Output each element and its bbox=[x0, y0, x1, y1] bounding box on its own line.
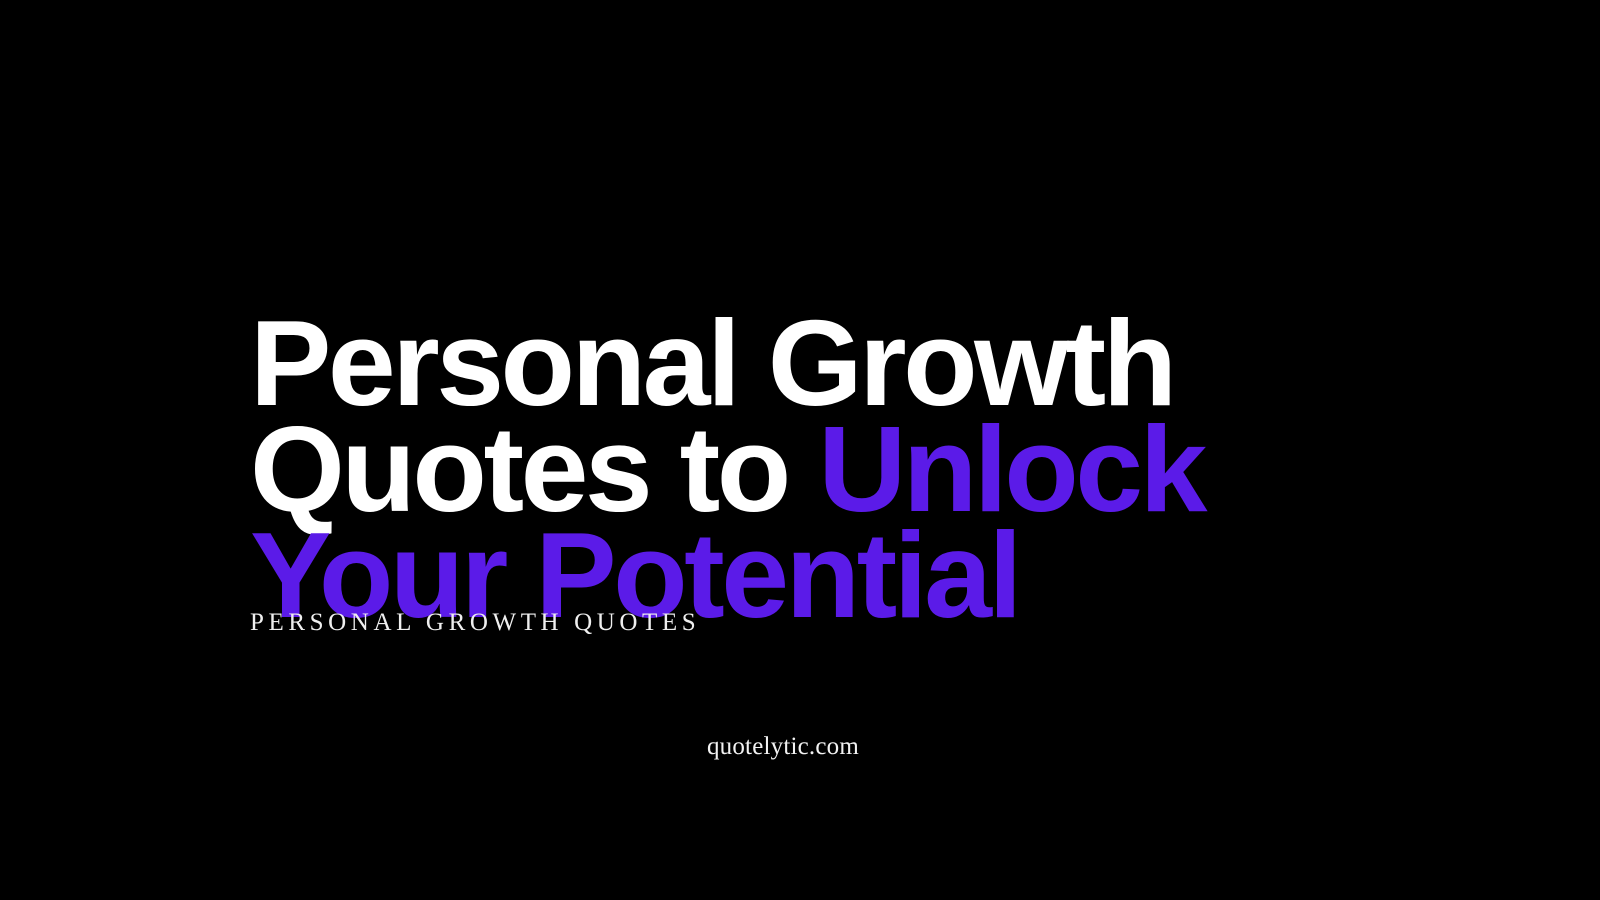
site-watermark: quotelytic.com bbox=[0, 733, 1600, 761]
site-watermark-text: quotelytic.com bbox=[707, 733, 859, 761]
page-title: Personal Growth Quotes to Unlock Your Po… bbox=[250, 310, 1350, 628]
poster-canvas: Personal Growth Quotes to Unlock Your Po… bbox=[0, 0, 1600, 900]
category-label: PERSONAL GROWTH QUOTES bbox=[250, 609, 700, 637]
